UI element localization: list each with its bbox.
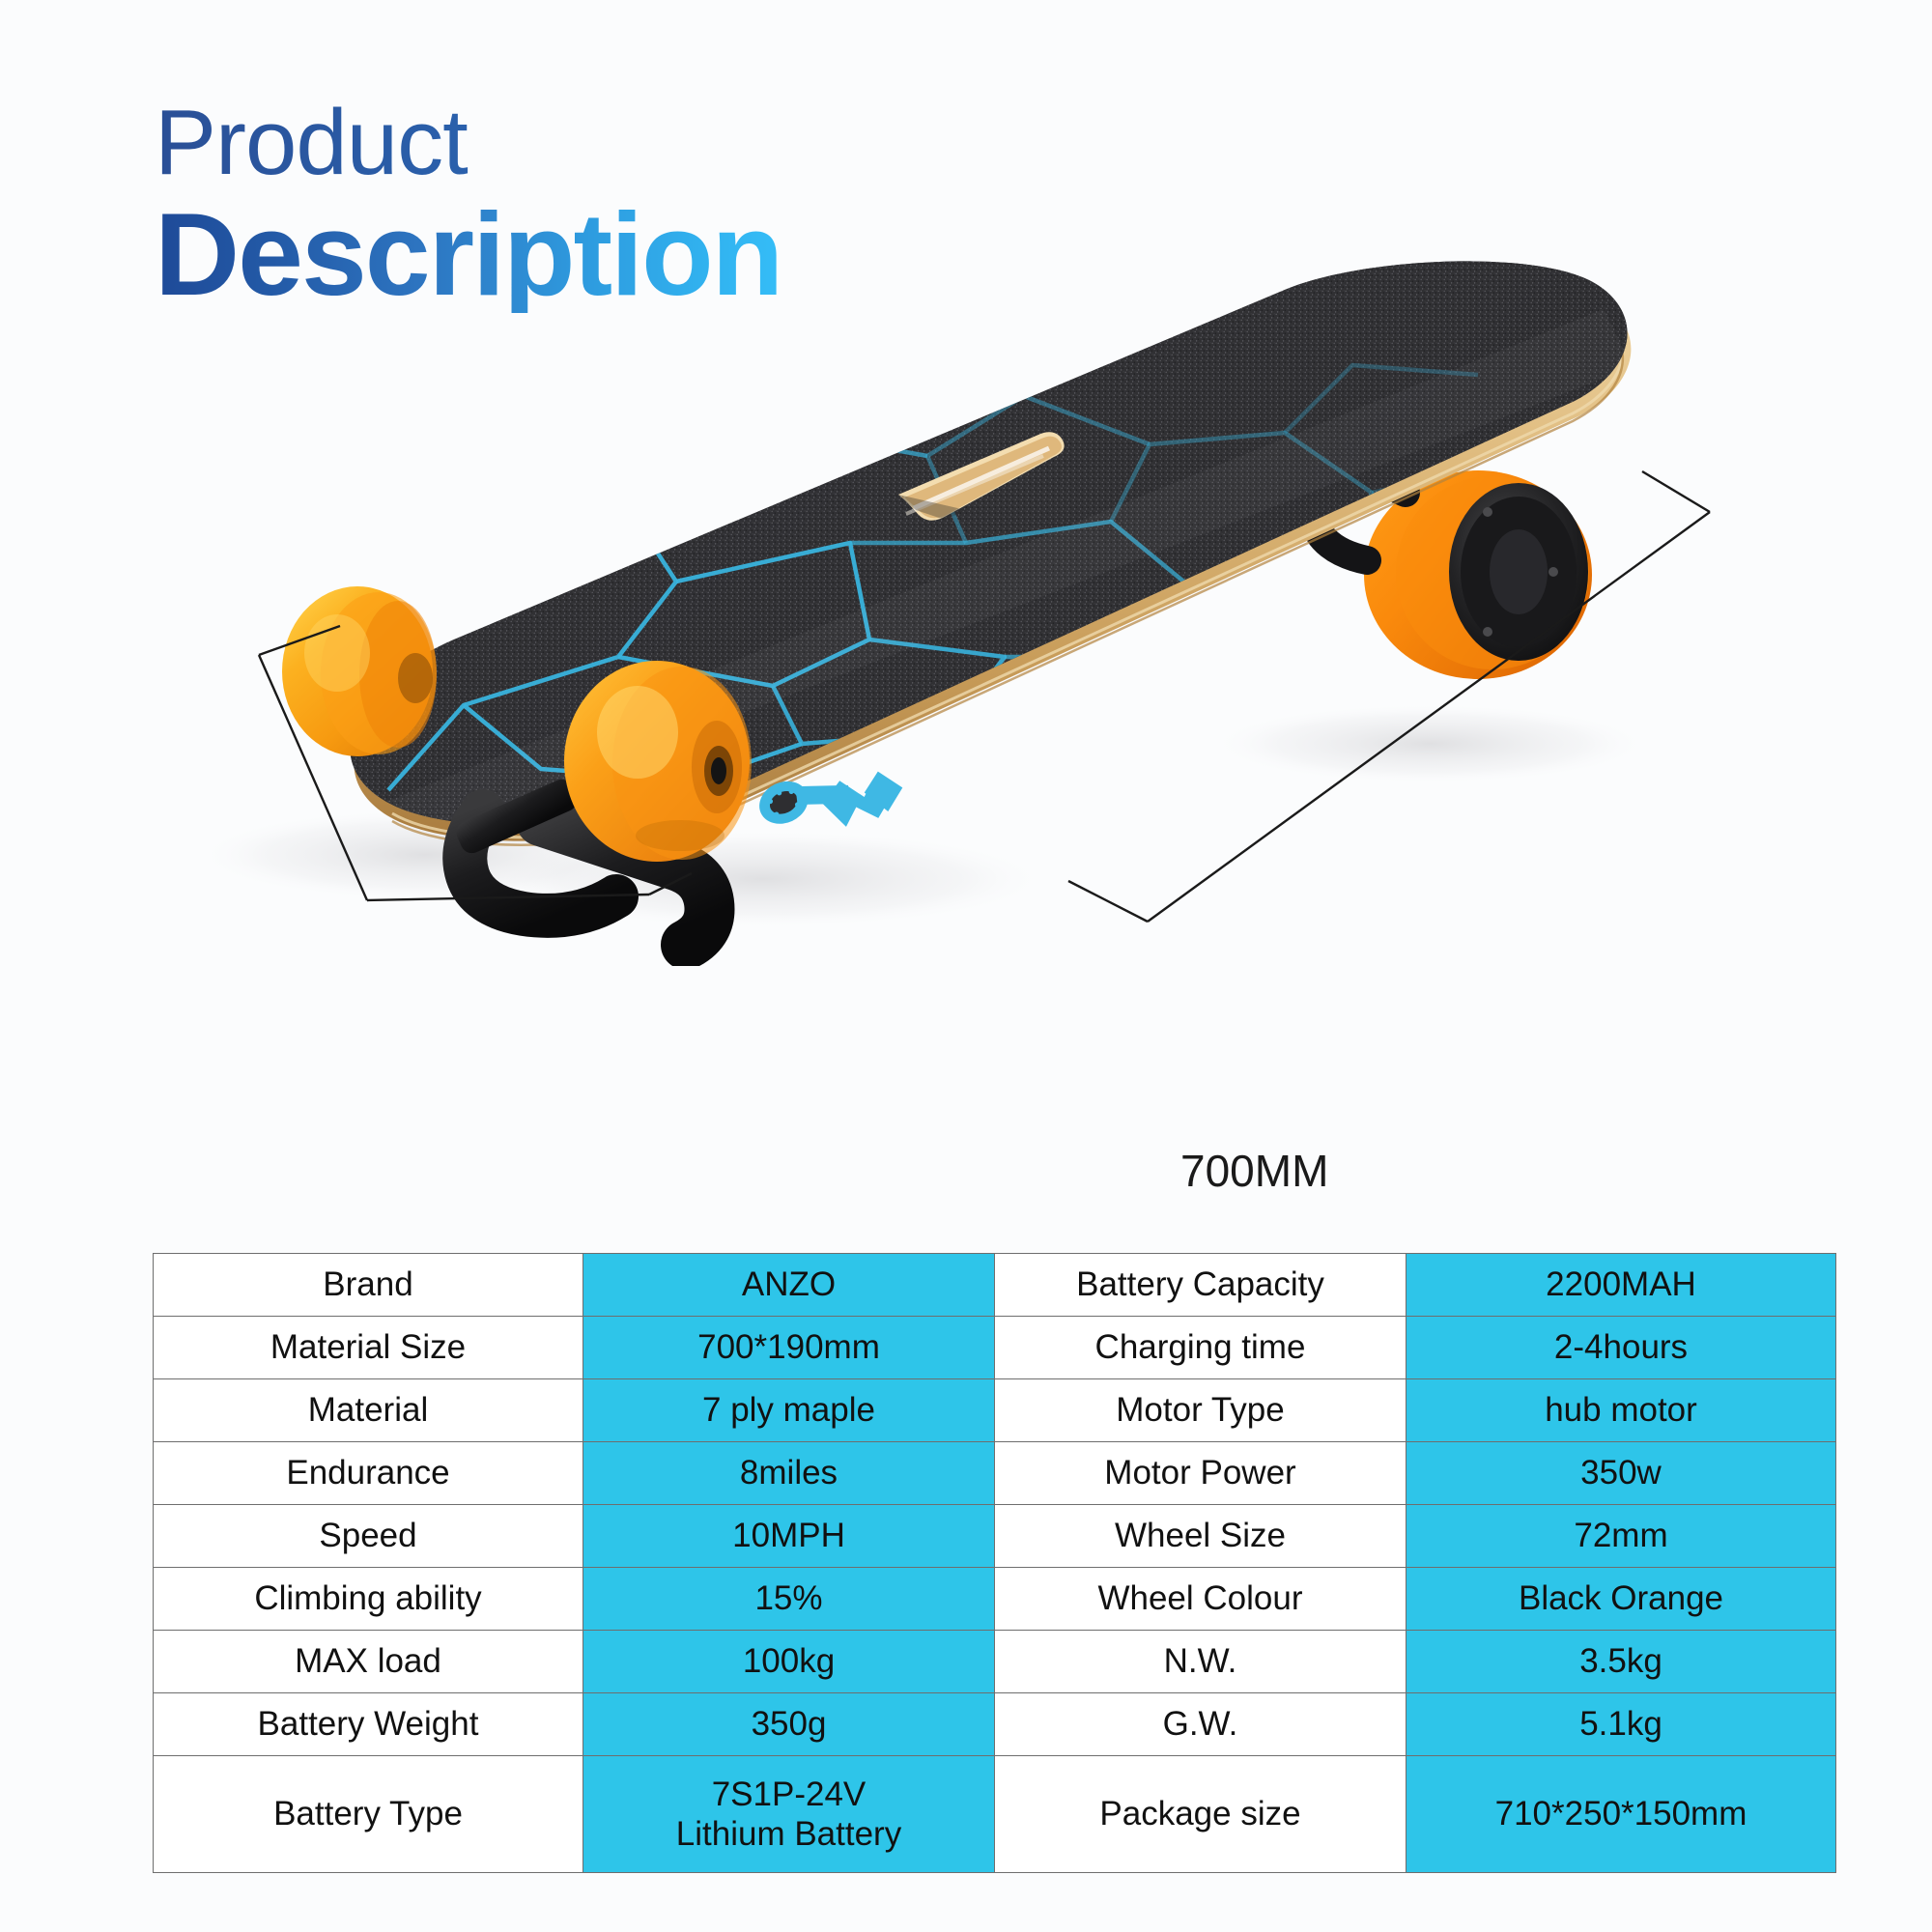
spec-label-endurance: Endurance xyxy=(154,1442,583,1505)
spec-value-gross-weight: 5.1kg xyxy=(1406,1693,1836,1756)
spec-label-motor-power: Motor Power xyxy=(995,1442,1406,1505)
spec-value-material: 7 ply maple xyxy=(583,1379,995,1442)
spec-value-battery-type: 7S1P-24VLithium Battery xyxy=(583,1756,995,1873)
spec-value-brand: ANZO xyxy=(583,1254,995,1317)
spec-label-net-weight: N.W. xyxy=(995,1631,1406,1693)
spec-value-net-weight: 3.5kg xyxy=(1406,1631,1836,1693)
product-photo: 700MM 190MM xyxy=(0,203,1932,966)
spec-label-battery-capacity: Battery Capacity xyxy=(995,1254,1406,1317)
front-right-wheel xyxy=(564,661,752,862)
spec-value-endurance: 8miles xyxy=(583,1442,995,1505)
spec-label-motor-type: Motor Type xyxy=(995,1379,1406,1442)
spec-label-gross-weight: G.W. xyxy=(995,1693,1406,1756)
specification-table: Brand ANZO Battery Capacity 2200MAH Mate… xyxy=(153,1253,1836,1873)
spec-label-brand: Brand xyxy=(154,1254,583,1317)
table-row: Speed 10MPH Wheel Size 72mm xyxy=(154,1505,1836,1568)
spec-value-package-size: 710*250*150mm xyxy=(1406,1756,1836,1873)
table-row: Climbing ability 15% Wheel Colour Black … xyxy=(154,1568,1836,1631)
table-row: Battery Weight 350g G.W. 5.1kg xyxy=(154,1693,1836,1756)
spec-value-motor-power: 350w xyxy=(1406,1442,1836,1505)
specification-table-body: Brand ANZO Battery Capacity 2200MAH Mate… xyxy=(154,1254,1836,1873)
spec-value-speed: 10MPH xyxy=(583,1505,995,1568)
length-tick-rear xyxy=(1642,471,1710,512)
spec-label-speed: Speed xyxy=(154,1505,583,1568)
table-row: Material 7 ply maple Motor Type hub moto… xyxy=(154,1379,1836,1442)
table-row: Brand ANZO Battery Capacity 2200MAH xyxy=(154,1254,1836,1317)
spec-value-wheel-size: 72mm xyxy=(1406,1505,1836,1568)
length-dimension-label: 700MM xyxy=(1180,1145,1328,1197)
product-description-page: Product Description xyxy=(0,0,1932,1932)
spec-value-charging-time: 2-4hours xyxy=(1406,1317,1836,1379)
spec-label-package-size: Package size xyxy=(995,1756,1406,1873)
spec-value-climbing-ability: 15% xyxy=(583,1568,995,1631)
spec-label-climbing-ability: Climbing ability xyxy=(154,1568,583,1631)
spec-value-motor-type: hub motor xyxy=(1406,1379,1836,1442)
spec-value-max-load: 100kg xyxy=(583,1631,995,1693)
spec-label-wheel-colour: Wheel Colour xyxy=(995,1568,1406,1631)
length-tick-front xyxy=(1068,881,1148,922)
spec-label-material-size: Material Size xyxy=(154,1317,583,1379)
spec-label-max-load: MAX load xyxy=(154,1631,583,1693)
spec-value-material-size: 700*190mm xyxy=(583,1317,995,1379)
page-title-product: Product xyxy=(155,97,781,189)
front-left-wheel xyxy=(282,586,437,756)
spec-value-battery-weight: 350g xyxy=(583,1693,995,1756)
spec-label-charging-time: Charging time xyxy=(995,1317,1406,1379)
spec-value-battery-capacity: 2200MAH xyxy=(1406,1254,1836,1317)
spec-label-material: Material xyxy=(154,1379,583,1442)
spec-value-wheel-colour: Black Orange xyxy=(1406,1568,1836,1631)
specification-table-wrapper: Brand ANZO Battery Capacity 2200MAH Mate… xyxy=(153,1253,1785,1873)
table-row: MAX load 100kg N.W. 3.5kg xyxy=(154,1631,1836,1693)
skateboard-illustration xyxy=(0,203,1932,966)
table-row: Battery Type 7S1P-24VLithium Battery Pac… xyxy=(154,1756,1836,1873)
table-row: Endurance 8miles Motor Power 350w xyxy=(154,1442,1836,1505)
table-row: Material Size 700*190mm Charging time 2-… xyxy=(154,1317,1836,1379)
spec-label-battery-type: Battery Type xyxy=(154,1756,583,1873)
spec-label-battery-weight: Battery Weight xyxy=(154,1693,583,1756)
spec-label-wheel-size: Wheel Size xyxy=(995,1505,1406,1568)
